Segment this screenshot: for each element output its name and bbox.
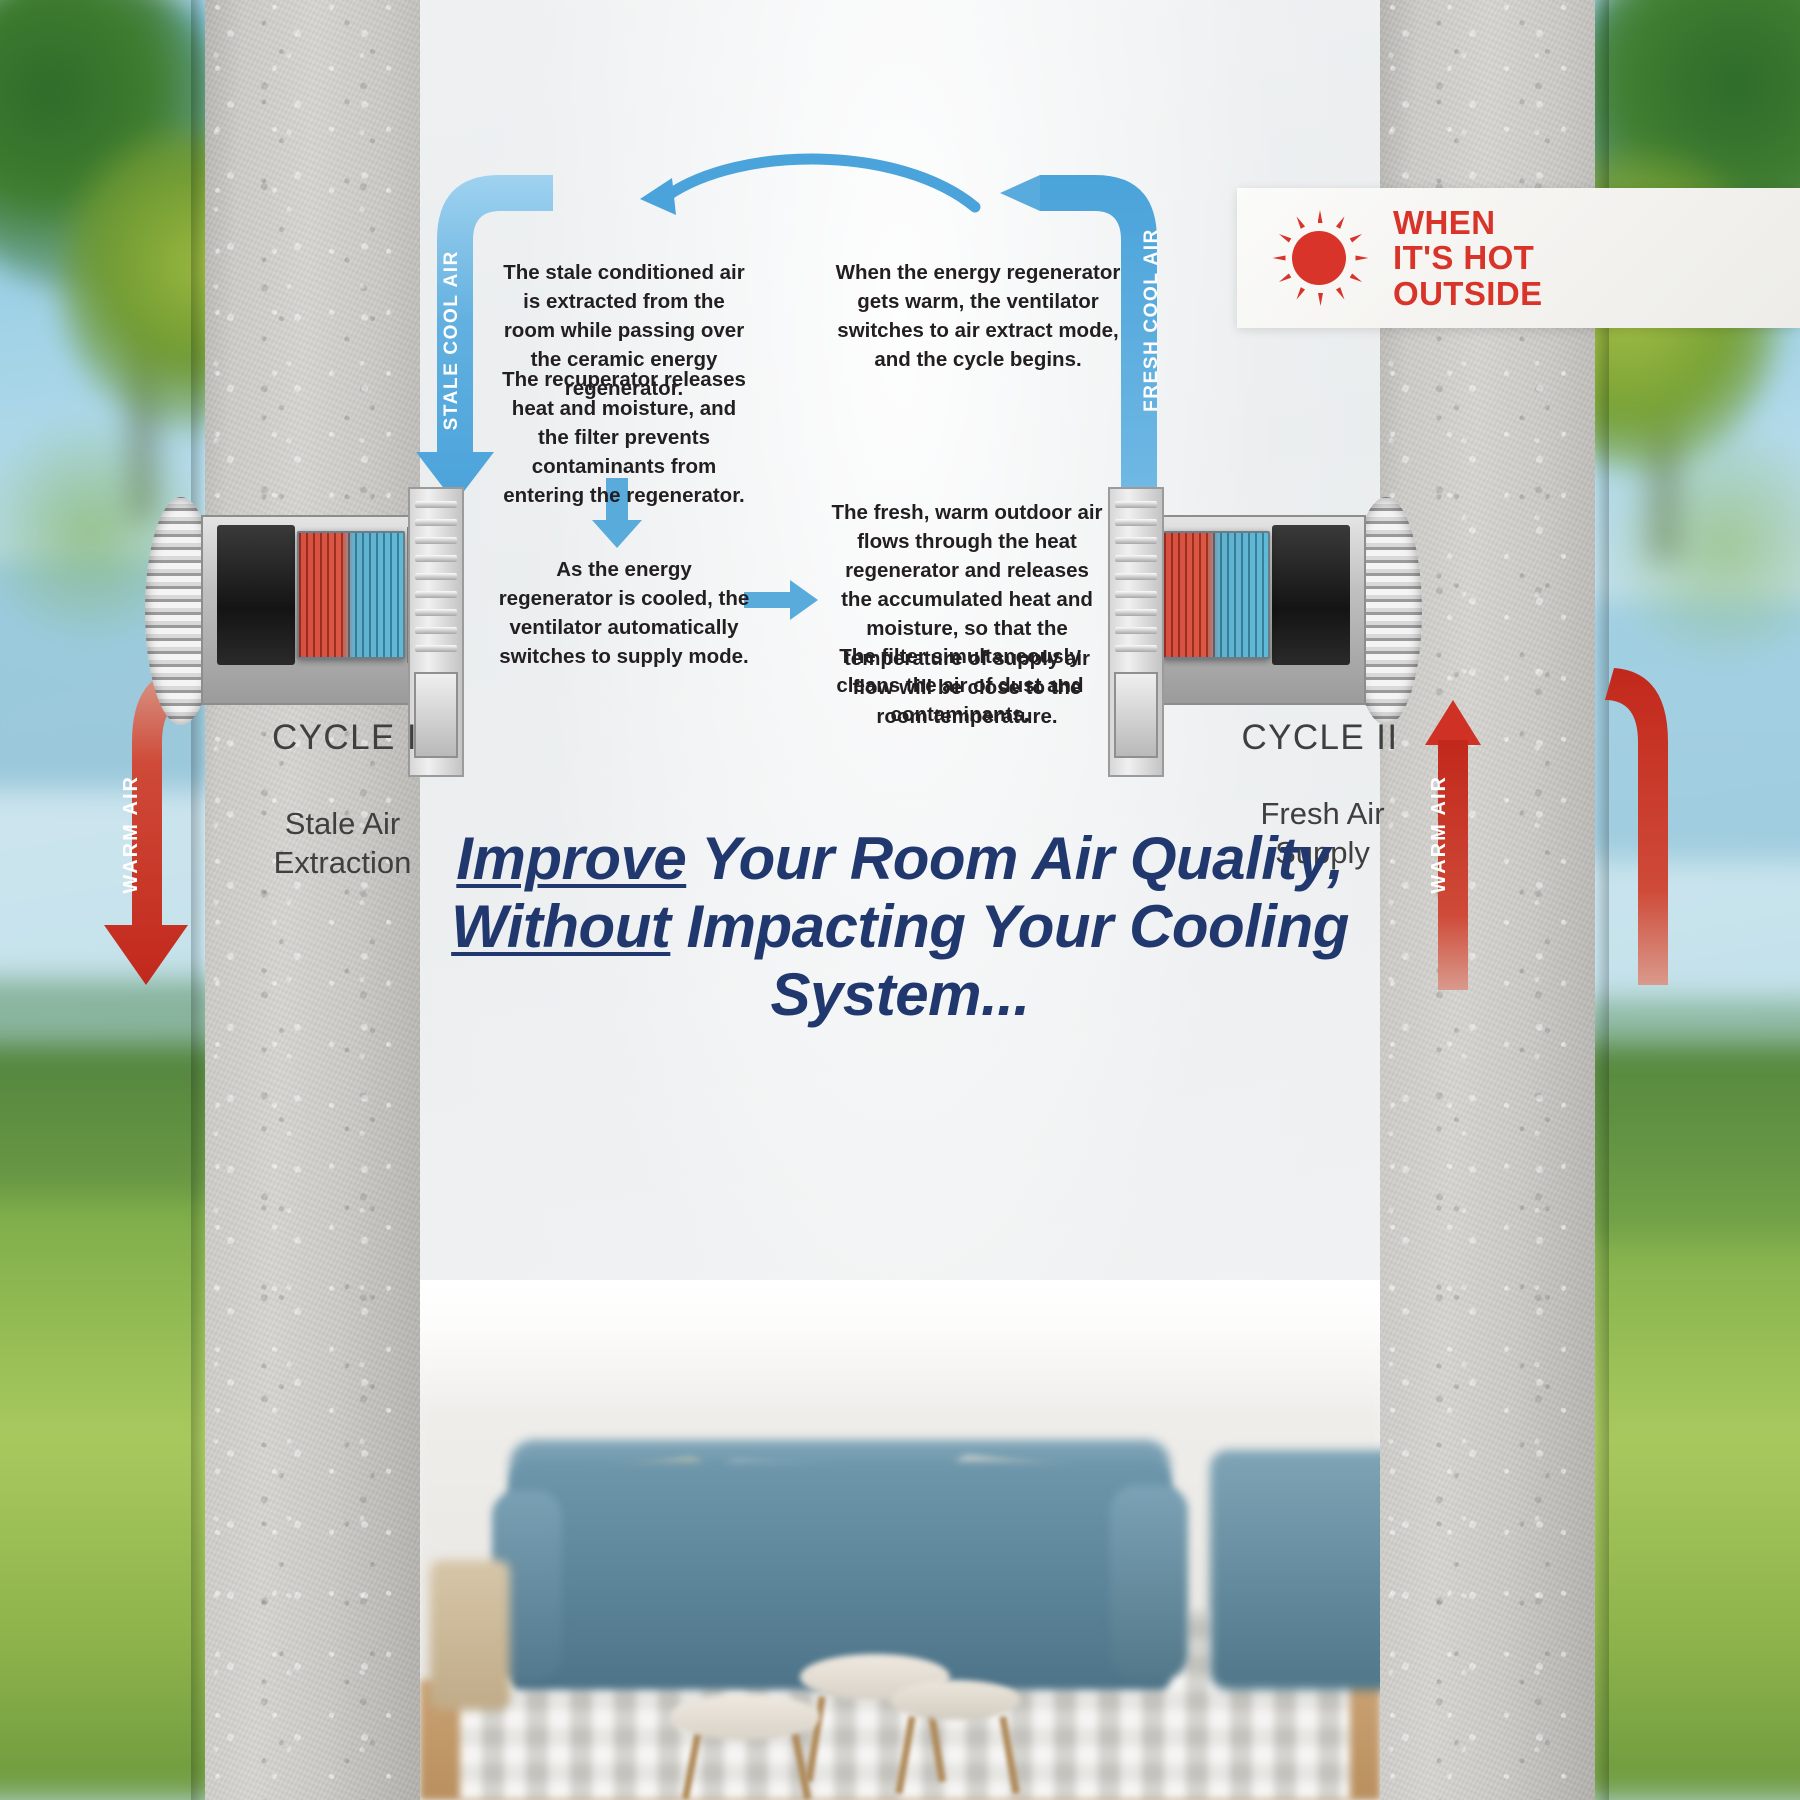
infographic-canvas: STALE COOL AIR FRESH COOL AIR WARM AIR W… xyxy=(0,0,1800,1800)
grille-slat xyxy=(1115,537,1157,544)
step-text-2: The recuperator releases heat and moistu… xyxy=(497,365,751,511)
sun-ray xyxy=(1272,256,1285,261)
control-module-right xyxy=(1114,672,1158,758)
grille-slat xyxy=(415,573,457,580)
grille-slat xyxy=(415,537,457,544)
grille-slat xyxy=(1115,555,1157,562)
grille-slat xyxy=(1115,609,1157,616)
grille-slat xyxy=(415,645,457,652)
when-its-hot-outside-badge: WHEN IT'S HOT OUTSIDE xyxy=(1237,188,1800,328)
sun-ray xyxy=(1355,256,1368,261)
label-stale-cool-air: STALE COOL AIR xyxy=(441,250,463,430)
cycle-1-title: CYCLE I xyxy=(210,718,480,758)
sun-core xyxy=(1292,231,1346,285)
sun-ray xyxy=(1318,210,1323,223)
sun-ray xyxy=(1277,232,1291,243)
grille-slat xyxy=(415,627,457,634)
photo-fade-mask xyxy=(420,1280,1380,1800)
wall-shadow-left xyxy=(191,0,205,1800)
badge-line-3: OUTSIDE xyxy=(1393,276,1542,311)
label-warm-air-left: WARM AIR xyxy=(120,775,143,894)
headline-word-improve: Improve xyxy=(456,825,686,892)
cycle-2-title: CYCLE II xyxy=(1185,718,1455,758)
grille-slat xyxy=(1115,645,1157,652)
sun-ray xyxy=(1318,293,1323,306)
sun-ray xyxy=(1335,287,1346,301)
unit-fan-motor-right xyxy=(1272,525,1350,665)
sun-ray xyxy=(1277,273,1291,284)
grille-slat xyxy=(1115,501,1157,508)
sun-ray xyxy=(1294,215,1305,229)
grille-slat xyxy=(415,591,457,598)
grille-slat xyxy=(415,501,457,508)
ceramic-energy-regenerator-left xyxy=(297,531,405,659)
badge-line-2: IT'S HOT xyxy=(1393,240,1542,275)
headline-part-2: Impacting Your Cooling System... xyxy=(670,893,1349,1028)
headline-word-without: Without xyxy=(451,893,670,960)
sun-ray xyxy=(1335,215,1346,229)
badge-line-1: WHEN xyxy=(1393,205,1542,240)
grille-slat xyxy=(1115,573,1157,580)
sun-ray xyxy=(1349,232,1363,243)
badge-text: WHEN IT'S HOT OUTSIDE xyxy=(1393,205,1542,311)
grille-slat xyxy=(415,519,457,526)
step-text-4: When the energy regenerator gets warm, t… xyxy=(828,258,1128,374)
headline-part-1: Your Room Air Quality, xyxy=(686,825,1343,892)
concrete-wall-left xyxy=(205,0,420,1800)
grille-slat xyxy=(1115,591,1157,598)
grille-slat xyxy=(1115,519,1157,526)
ceramic-energy-regenerator-right xyxy=(1162,531,1270,659)
label-fresh-cool-air: FRESH COOL AIR xyxy=(1141,228,1163,412)
grille-slat xyxy=(1115,627,1157,634)
headline: Improve Your Room Air Quality, Without I… xyxy=(440,825,1360,1028)
grille-slat xyxy=(415,555,457,562)
sun-ray xyxy=(1294,287,1305,301)
step-text-3: As the energy regenerator is cooled, the… xyxy=(497,555,751,671)
unit-fan-motor-left xyxy=(217,525,295,665)
grille-slat xyxy=(415,609,457,616)
living-room-photo xyxy=(420,1280,1380,1800)
step-text-6: The filter simultaneously cleans the air… xyxy=(828,642,1092,729)
sun-ray xyxy=(1349,273,1363,284)
sun-icon xyxy=(1271,210,1367,306)
